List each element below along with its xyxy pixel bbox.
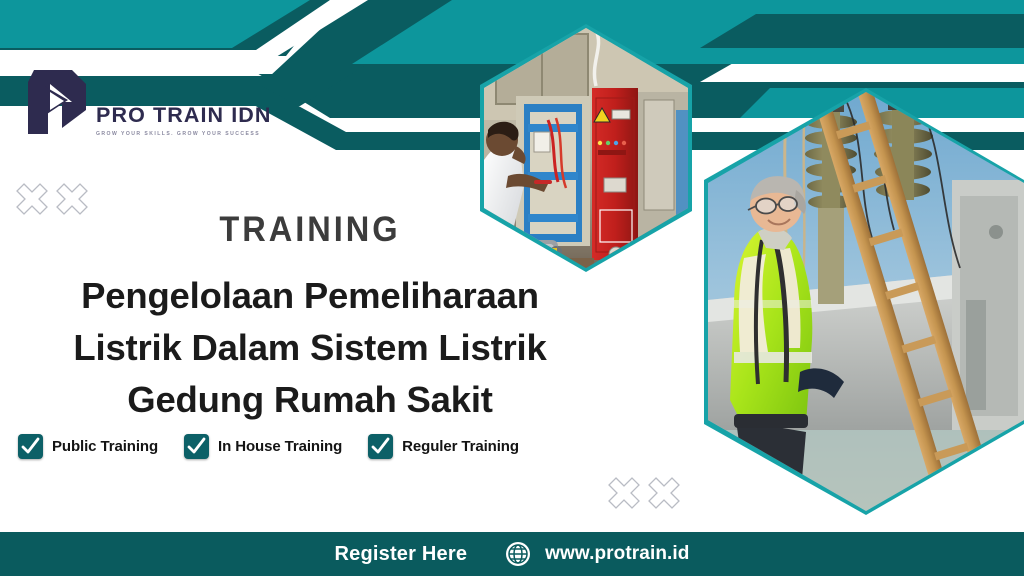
- training-banner: PRO TRAIN IDN GROW YOUR SKILLS. GROW YOU…: [0, 0, 1024, 576]
- register-here-cta[interactable]: Register Here: [334, 543, 467, 566]
- protrain-hex-arrow-logo-icon: [14, 60, 94, 142]
- badge-public-training[interactable]: Public Training: [18, 434, 158, 459]
- training-kicker: TRAINING: [22, 212, 599, 247]
- badge-in-house-training[interactable]: In House Training: [184, 434, 342, 459]
- brand-logo[interactable]: PRO TRAIN IDN GROW YOUR SKILLS. GROW YOU…: [14, 60, 224, 160]
- title-line-3: Gedung Rumah Sakit: [0, 374, 620, 426]
- title-line-1: Pengelolaan Pemeliharaan: [0, 270, 620, 322]
- checkbox-checked-icon[interactable]: [18, 434, 43, 459]
- badge-label: Public Training: [52, 438, 158, 455]
- title-line-2: Listrik Dalam Sistem Listrik: [0, 322, 620, 374]
- website-link[interactable]: www.protrain.id: [505, 541, 689, 567]
- badge-label: Reguler Training: [402, 438, 519, 455]
- headline-block: TRAINING Pengelolaan Pemeliharaan Listri…: [0, 212, 620, 425]
- badge-reguler-training[interactable]: Reguler Training: [368, 434, 519, 459]
- insulator-stack-right: [873, 92, 933, 200]
- cross-marks-decoration-bottom: [606, 472, 688, 514]
- globe-icon: [505, 541, 531, 567]
- brand-tagline: GROW YOUR SKILLS. GROW YOUR SUCCESS: [96, 131, 260, 137]
- hexagon-photo-substation-worker: [704, 74, 1024, 520]
- checkbox-checked-icon[interactable]: [184, 434, 209, 459]
- brand-name: PRO TRAIN IDN: [96, 105, 272, 127]
- training-type-badges: Public Training In House Training Regule…: [18, 434, 519, 459]
- footer-bar: Register Here www.protrain.id: [0, 532, 1024, 576]
- website-url: www.protrain.id: [545, 543, 689, 565]
- worker-figure: [730, 176, 844, 502]
- badge-label: In House Training: [218, 438, 342, 455]
- checkbox-checked-icon[interactable]: [368, 434, 393, 459]
- page-title: Pengelolaan Pemeliharaan Listrik Dalam S…: [0, 270, 620, 425]
- insulator-stack-left: [805, 88, 857, 304]
- wooden-ladder: [811, 74, 996, 512]
